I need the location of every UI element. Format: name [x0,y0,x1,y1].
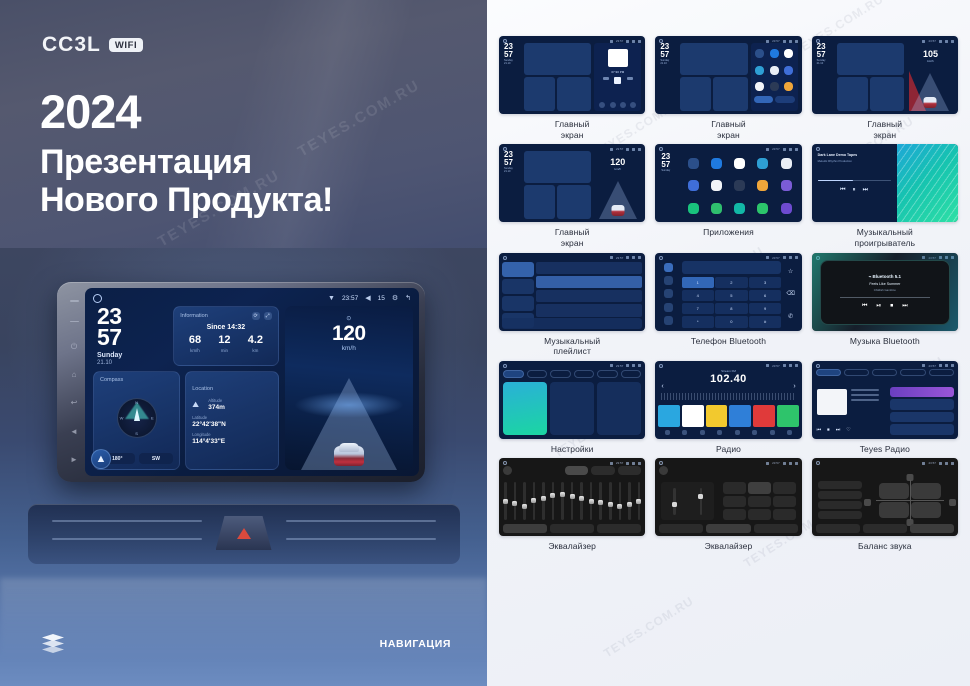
effect-button[interactable] [773,496,796,507]
playback-controls[interactable]: ⏮ ⏯ ⏹ ⏭ [862,303,908,310]
app-icon[interactable] [781,158,792,169]
preset-button[interactable] [818,511,862,519]
location-card[interactable] [870,77,904,111]
application-grid[interactable] [682,152,798,219]
altitude-label: Altitude [208,398,225,403]
home-icon[interactable] [659,147,663,151]
track-list[interactable] [536,262,643,317]
back-arrow-icon[interactable] [951,364,954,367]
equalizer-screen[interactable]: 23:57 [499,458,645,536]
app-icon[interactable] [781,203,792,214]
effect-button[interactable] [748,496,771,507]
volume-down-icon[interactable]: ◄ [70,427,79,436]
balance-right-icon[interactable] [949,499,956,506]
app-icon[interactable] [781,180,792,191]
eq-band-slider[interactable] [638,482,641,520]
level-slider[interactable] [673,488,676,515]
information-card[interactable]: Information ⟳ ⤢ Since 14:32 [173,306,278,366]
headline-block: 2024 Презентация Нового Продукта! [40,88,333,219]
phone-nav-icon[interactable] [664,303,673,312]
app-icon[interactable] [757,203,768,214]
gallery-cell: 23:57 Эквалайзер [499,458,645,552]
volume-up-icon[interactable]: ► [70,455,79,464]
trip-stats: 68 km/h 12 min 4.2 [180,335,271,353]
settings-tiles[interactable] [503,382,641,435]
gear-icon[interactable] [945,364,948,367]
traffic-tile[interactable] [550,382,594,435]
eq-tab[interactable] [597,524,641,533]
app-icon[interactable] [734,203,745,214]
station-presets[interactable] [658,405,798,427]
speed-readout: ⊙ 120 km/h [285,315,413,352]
eq-tab[interactable] [706,524,750,533]
call-icon[interactable]: ✆ [788,313,793,320]
settings-tabs[interactable] [503,370,641,378]
home-icon[interactable] [816,364,820,368]
preset-button[interactable] [818,491,862,499]
station-row[interactable] [890,424,954,435]
home-screen-drive[interactable]: 23:57 2357 Sunday21.10 105km/h [812,36,958,114]
gallery-cell: 23:57 2357 Sunday21.10 07:30 PM [499,36,645,140]
equalizer-tabs[interactable] [503,524,641,533]
gear-icon[interactable] [789,256,792,259]
gear-icon[interactable] [789,148,792,151]
preset-icon[interactable] [659,466,668,475]
phone-actions[interactable]: ☆ ⌫ ✆ [783,261,799,328]
eq-tab[interactable] [550,524,594,533]
widgets-column [524,43,591,111]
teyes-tab[interactable] [816,369,841,376]
app-icon[interactable] [770,49,779,58]
tune-down-icon[interactable]: ‹ [661,383,663,390]
balance-presets[interactable] [818,480,862,520]
refresh-icon[interactable]: ⟳ [252,312,260,320]
longitude-value: 114°4'33"E [192,438,271,445]
preset-chip[interactable] [591,466,614,475]
preset-chip[interactable] [565,466,588,475]
eq-tab[interactable] [863,524,907,533]
gallery-caption: Радио [716,444,741,455]
gallery-caption: Эквалайзер [705,541,753,552]
gear-icon[interactable] [632,364,635,367]
music-player-screen[interactable]: 23:57 Dark Lane Demo Tapes Melodic Rhyth… [812,144,958,222]
gallery-caption: Главный экран [555,119,590,140]
dial-key[interactable]: 8 [715,303,747,315]
home-icon[interactable]: ⌂ [70,370,79,379]
app-icon[interactable] [755,49,764,58]
back-arrow-icon[interactable] [795,462,798,465]
back-arrow-icon[interactable] [795,364,798,367]
track-row[interactable] [536,290,643,302]
sound-balance-screen[interactable]: 23:57 [812,458,958,536]
dial-keypad[interactable]: 123456789*0# [682,277,782,328]
compass-card[interactable] [524,77,555,111]
home-icon[interactable] [659,256,663,260]
gear-icon[interactable] [632,462,635,465]
teyes-tab[interactable] [929,369,954,376]
progress-bar[interactable] [840,297,930,298]
dock-button[interactable] [754,96,774,103]
home-icon[interactable] [93,294,102,303]
home-screen-drive2[interactable]: 23:57 2357 Sunday21.10 120km/h [499,144,645,222]
eq-tab[interactable] [754,524,798,533]
stat-item: 4.2 km [248,335,263,353]
eq-band-slider[interactable] [504,482,507,520]
gallery-cell: 23:57 Dark Lane Demo Tapes Melodic Rhyth… [812,144,958,248]
eq-tab[interactable] [503,524,547,533]
level-slider[interactable] [700,488,703,515]
drive-view-panel[interactable]: ⊙ 120 km/h [285,306,413,470]
gallery-cell: 23:57 2357 Sunday21.10 120km/h [499,144,645,248]
app-icon[interactable] [755,66,764,75]
phone-nav-icon[interactable] [664,276,673,285]
previous-icon[interactable]: ⏮ [840,187,845,194]
phone-nav-icon[interactable] [664,289,673,298]
gallery-caption: Эквалайзер [548,541,596,552]
gallery-caption: Телефон Bluetooth [691,336,766,347]
app-icon[interactable] [770,66,779,75]
previous-icon[interactable]: ⏮ [862,303,867,310]
app-icon[interactable] [757,180,768,191]
dial-key[interactable]: 6 [749,290,781,302]
number-field[interactable] [682,261,782,274]
toolbar-icon[interactable] [717,430,722,435]
speed-value: 120 [285,323,413,344]
dial-key[interactable]: # [749,316,781,328]
location-card[interactable] [713,77,747,111]
eq-band-slider[interactable] [599,482,602,520]
settings-screen[interactable]: 23:57 [499,361,645,439]
compass-s: S [135,431,138,436]
preset-icon[interactable] [503,466,512,475]
since-label: Since 14:32 [180,324,271,331]
back-arrow-icon[interactable] [795,148,798,151]
track-artist: Childish Gambino [874,288,896,292]
status-bar: 23:57 [659,255,797,261]
app-icon[interactable] [711,203,722,214]
app-icon[interactable] [755,82,764,91]
home-icon[interactable] [503,461,507,465]
gear-icon[interactable] [632,256,635,259]
settings-tab[interactable] [527,370,548,378]
preset-button[interactable] [818,501,862,509]
pause-icon[interactable]: ⏸ [853,187,856,194]
gallery-caption: Главный экран [555,227,590,248]
track-row[interactable] [536,276,643,288]
eq-band-slider[interactable] [542,482,545,520]
effect-buttons[interactable] [723,482,796,520]
phone-nav[interactable] [658,261,678,328]
button-next-track[interactable] [70,321,79,323]
eq-tab[interactable] [659,524,703,533]
compass-card[interactable] [837,77,868,111]
mini-player[interactable] [502,318,642,329]
station-list[interactable] [890,387,954,435]
eq-tab[interactable] [816,524,860,533]
toolbar-icon[interactable] [787,430,792,435]
gear-icon[interactable]: ⚙ [392,294,398,302]
app-icon[interactable] [757,158,768,169]
dial-key[interactable]: 0 [715,316,747,328]
category-item[interactable] [502,279,534,294]
effect-button[interactable] [723,509,746,520]
station-row[interactable] [890,387,954,398]
teyes-tabs[interactable] [816,369,954,376]
effect-button[interactable] [773,482,796,493]
teyes-radio-screen[interactable]: 23:57 ⏮ ⏹ ⏭ ♡ [812,361,958,439]
app-icon[interactable] [734,180,745,191]
back-arrow-icon[interactable] [795,256,798,259]
media-widget[interactable]: 07:30 PM [594,43,641,111]
level-sliders[interactable] [661,482,714,520]
back-arrow-icon[interactable]: ↩ [70,398,79,407]
information-card[interactable] [680,43,747,75]
home-icon[interactable] [503,256,507,260]
frequency-scale[interactable] [661,393,795,400]
toolbar-icon[interactable] [752,430,757,435]
volume-icon [783,148,786,151]
radio-screen[interactable]: 23:57 Stream FM 102.40 ‹ › [655,361,801,439]
category-item[interactable] [502,296,534,311]
drive-view-panel[interactable]: 105km/h [907,43,954,111]
toolbar-icon[interactable] [700,430,705,435]
gallery-cell: 23:57 [812,458,958,552]
screenshot-gallery: TEYES.COM.RU TEYES.COM.RU TEYES.COM.RU T… [487,0,970,686]
tune-up-icon[interactable]: › [793,383,795,390]
stop-icon[interactable]: ⏹ [890,303,893,310]
stat-value: 12 [218,335,230,346]
phone-nav-icon[interactable] [664,316,673,325]
station-preset[interactable] [706,405,728,427]
home-icon[interactable] [659,461,663,465]
information-card[interactable] [524,43,591,75]
eq-band-slider[interactable] [514,482,517,520]
settings-tab[interactable] [550,370,571,378]
equalizer-tabs[interactable] [659,524,797,533]
expand-icon[interactable]: ⤢ [264,312,272,320]
track-row[interactable] [536,262,643,274]
home-icon[interactable] [816,461,820,465]
station-preset[interactable] [729,405,751,427]
toolbar-icon[interactable] [682,430,687,435]
settings-tab[interactable] [503,370,524,378]
bluetooth-phone-screen[interactable]: 23:57 123456789*0# ☆ ⌫ ✆ [655,253,801,331]
playback-controls[interactable]: ⏮ ⏹ ⏭ ♡ [817,427,851,433]
station-preset[interactable] [682,405,704,427]
dial-key[interactable]: 7 [682,303,714,315]
dial-key[interactable]: 9 [749,303,781,315]
station-row[interactable] [890,399,954,410]
home-screen-apps[interactable]: 23:57 2357 Sunday21.10 [655,36,801,114]
eq-band-slider[interactable] [619,482,622,520]
eq-band-slider[interactable] [552,482,555,520]
dialpad-icon[interactable] [664,263,673,272]
gallery-caption: Teyes Радио [860,444,910,455]
app-icon[interactable] [734,158,745,169]
drive-view-panel[interactable]: 120km/h [594,151,641,219]
clock-widget: 2357 Sunday [660,153,679,173]
apps-screen[interactable]: 23:57 2357 Sunday [655,144,801,222]
app-icon[interactable] [711,158,722,169]
compass-card[interactable] [680,77,711,111]
hardware-button-strip[interactable]: ⏻ ⌂ ↩ ◄ ► [64,296,84,468]
eq-band-slider[interactable] [561,482,564,520]
teyes-tab[interactable] [900,369,925,376]
head-unit-screen[interactable]: ▼ 23:57 ◀ 15 ⚙ ↰ 23 [85,288,419,476]
now-playing: Dark Lane Demo Tapes Melodic Rhythm Prod… [812,144,897,222]
station-row[interactable] [890,412,954,423]
preset-chip[interactable] [618,466,641,475]
app-icon[interactable] [784,49,793,58]
eq-band-slider[interactable] [580,482,583,520]
radio-toolbar[interactable] [658,429,798,437]
app-shortcut-grid[interactable] [751,43,798,111]
eq-band-slider[interactable] [571,482,574,520]
location-card[interactable] [557,77,591,111]
eq-band-slider[interactable] [628,482,631,520]
headline-line-2: Нового Продукта! [40,181,333,219]
settings-tab[interactable] [597,370,618,378]
balance-left-icon[interactable] [864,499,871,506]
toolbar-icon[interactable] [770,430,775,435]
playback-controls[interactable]: ⏮ ⏸ ⏭ [818,187,891,194]
settings-tab[interactable] [574,370,595,378]
wifi-icon [766,148,769,151]
dial-key[interactable]: 4 [682,290,714,302]
gallery-caption: Приложения [703,227,754,238]
next-icon[interactable]: ⏭ [836,427,841,433]
balance-pad[interactable] [876,480,944,520]
eq-band-slider[interactable] [590,482,593,520]
media-controls[interactable] [600,77,635,84]
effect-button[interactable] [723,496,746,507]
dial-key[interactable]: 1 [682,277,714,289]
station-preset[interactable] [658,405,680,427]
effect-button[interactable] [748,509,771,520]
app-icon[interactable] [688,158,699,169]
equalizer-tabs[interactable] [816,524,954,533]
compass-card[interactable] [524,185,555,219]
home-screen-media[interactable]: 23:57 2357 Sunday21.10 07:30 PM [499,36,645,114]
favorite-icon[interactable]: ☆ [788,268,793,275]
eq-band-slider[interactable] [533,482,536,520]
hazard-light-button[interactable] [216,516,272,550]
app-icon[interactable] [770,82,779,91]
app-icon[interactable] [784,66,793,75]
progress-bar[interactable] [818,180,891,181]
clock-widget: 2357 Sunday21.10 [816,43,834,111]
back-arrow-icon[interactable] [638,364,641,367]
favorite-icon[interactable]: ♡ [846,427,850,433]
preset-button[interactable] [818,481,862,489]
back-arrow-icon[interactable]: ↰ [405,294,411,302]
eq-tab[interactable] [910,524,954,533]
equalizer-2-screen[interactable]: 23:57 [655,458,801,536]
effect-button[interactable] [748,482,771,493]
wifi-tile[interactable] [503,382,547,435]
teyes-tab[interactable] [844,369,869,376]
next-icon[interactable]: ⏭ [902,303,907,310]
toolbar-icon[interactable] [665,430,670,435]
eq-band-slider[interactable] [523,482,526,520]
dial-key[interactable]: 3 [749,277,781,289]
category-item[interactable] [502,262,534,277]
gallery-caption: Главный экран [868,119,903,140]
station-meta [851,389,879,404]
play-pause-icon[interactable]: ⏯ [876,303,881,310]
app-icon[interactable] [688,203,699,214]
station-preset[interactable] [777,405,799,427]
information-card[interactable] [837,43,904,75]
location-card[interactable] [557,185,591,219]
volume-icon[interactable]: ◀ [365,294,370,302]
dial-key[interactable]: 2 [715,277,747,289]
media-shortcuts[interactable] [597,102,638,108]
gallery-caption: Главный экран [711,119,746,140]
app-icon[interactable] [688,180,699,191]
gallery-cell: 23:57 2357 Sunday21.10 105km/h [812,36,958,140]
home-icon[interactable] [503,364,507,368]
settings-tab[interactable] [621,370,642,378]
dial-key[interactable]: 5 [715,290,747,302]
button-prev-track[interactable] [70,300,79,302]
back-arrow-icon[interactable] [951,462,954,465]
previous-icon[interactable]: ⏮ [817,427,822,433]
track-row[interactable] [536,304,643,316]
radio-frequency: 102.40 [655,373,801,385]
music-playlist-screen[interactable]: 23:57 [499,253,645,331]
visualizer [897,144,958,222]
gallery-cell: 23:57 Stream FM 102.40 ‹ › Радио [655,361,801,455]
other-tile[interactable] [597,382,641,435]
stop-icon[interactable]: ⏹ [827,427,830,433]
clock-widget[interactable]: 23 57 Sunday 21.10 [93,306,167,366]
eq-band-slider[interactable] [609,482,612,520]
track-title: Feels Like Summer [869,282,900,286]
effect-button[interactable] [723,482,746,493]
teyes-tab[interactable] [872,369,897,376]
app-icon[interactable] [784,82,793,91]
home-icon[interactable] [659,364,663,368]
effect-button[interactable] [773,509,796,520]
navigation-label: НАВИГАЦИЯ [380,638,451,650]
location-card[interactable]: Location ⛰ Altitude 374m [185,371,278,470]
longitude-row: Longitude 114°4'33"E [192,432,271,445]
equalizer-header[interactable] [503,466,641,475]
volume-icon [939,462,942,465]
equalizer-header [659,466,797,475]
toolbar-icon[interactable] [735,430,740,435]
navigation-arrow-icon[interactable]: ▲ [91,449,111,469]
back-arrow-icon[interactable] [638,256,641,259]
bluetooth-music-screen[interactable]: 23:57 ⌁ Bluetooth 5.1 Feels Like Summer … [812,253,958,331]
backspace-icon[interactable]: ⌫ [786,290,794,297]
power-icon[interactable]: ⏻ [70,342,79,351]
app-icon[interactable] [711,180,722,191]
dial-key[interactable]: * [682,316,714,328]
information-card[interactable] [524,151,591,183]
gear-icon[interactable] [789,364,792,367]
gallery-caption: Музыкальный плейлист [544,336,600,357]
gear-icon[interactable] [945,462,948,465]
next-icon[interactable]: ⏭ [863,187,868,194]
wifi-badge: WIFI [109,38,143,52]
back-arrow-icon[interactable] [638,462,641,465]
band-sliders[interactable] [504,482,640,520]
station-preset[interactable] [753,405,775,427]
gear-icon[interactable] [789,462,792,465]
dock-button[interactable] [775,96,795,103]
